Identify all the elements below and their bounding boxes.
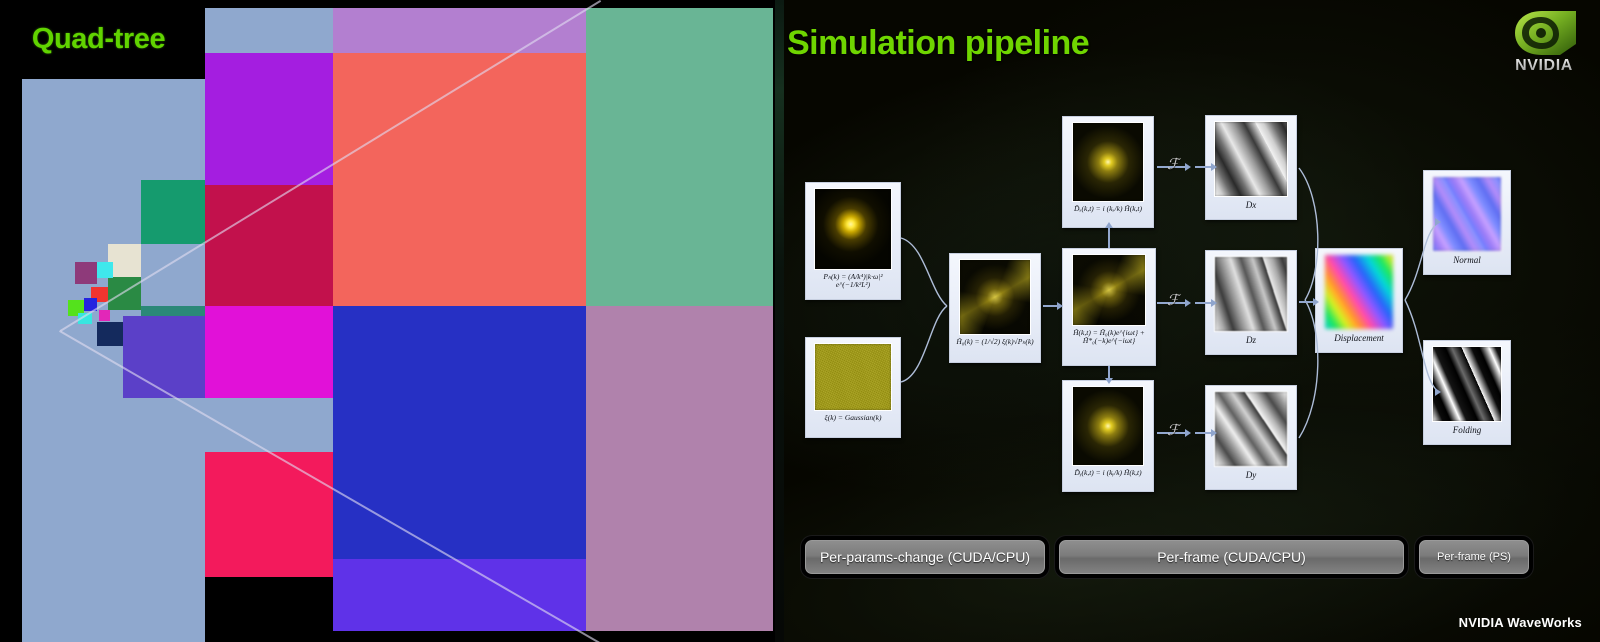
- legend-per-frame-cuda[interactable]: Per-frame (CUDA/CPU): [1059, 540, 1404, 574]
- quad-tree-cell-cyan-tile: [97, 262, 113, 278]
- quad-tree-cell-top-left-strip: [205, 8, 333, 53]
- arrow-ft2-to-dzmap-head: [1211, 299, 1217, 307]
- quad-tree-cell-mauve-right-bottom: [586, 306, 773, 631]
- arrow-ft3-to-dymap-head: [1211, 429, 1217, 437]
- arrow-dzmap-to-disp-head: [1313, 298, 1319, 306]
- quad-tree-cell-teal-small: [141, 180, 205, 244]
- quad-tree-cell-green-tile: [108, 277, 141, 310]
- nvidia-wordmark: NVIDIA: [1502, 57, 1586, 75]
- quad-tree-canvas: [0, 0, 775, 642]
- slide-left-edge: [775, 0, 784, 642]
- dz-map-node: Dz: [1205, 250, 1297, 355]
- arrow-hkt-to-dx: [1108, 228, 1110, 248]
- quad-tree-cell-violet-block: [205, 53, 333, 185]
- dy-map-caption: Dy: [1211, 470, 1291, 480]
- arrow-h0-to-hkt: [1043, 305, 1057, 307]
- arrow-dzmap-to-disp: [1299, 301, 1313, 303]
- quad-tree-cell-blue-tile: [84, 298, 97, 311]
- h0-caption: H̃₀(k) = (1/√2) ξ(k)√Pₕ(k): [955, 338, 1035, 346]
- quad-tree-cell-pink-block: [205, 452, 333, 577]
- dy-map-node: Dy: [1205, 385, 1297, 490]
- arrow-h0-to-hkt-head: [1057, 302, 1063, 310]
- h0-node: H̃₀(k) = (1/√2) ξ(k)√Pₕ(k): [949, 253, 1041, 363]
- spectrum-power-caption: Pₕ(k) = (A/k⁴)|k·ω|² e^(−1/k²L²): [811, 273, 895, 290]
- quad-tree-cell-magenta-tile: [99, 310, 110, 321]
- quad-tree-title-box: Quad-tree: [0, 0, 197, 79]
- arrow-ft-to-dxmap: [1195, 166, 1211, 168]
- hkt-thumbnail: [1072, 254, 1146, 326]
- displacement-node: Displacement: [1315, 248, 1403, 353]
- dx-spectrum-thumbnail: [1072, 122, 1144, 202]
- legend-per-frame-ps[interactable]: Per-frame (PS): [1419, 540, 1529, 574]
- quad-tree-cell-violet-bottom: [333, 559, 586, 631]
- pipeline-legend: Per-params-change (CUDA/CPU)Per-frame (C…: [775, 536, 1600, 582]
- dx-map-node: Dx: [1205, 115, 1297, 220]
- quad-tree-cell-salmon-block: [333, 53, 586, 306]
- quad-tree-cell-base-bottom-left: [22, 577, 205, 631]
- quad-tree-title: Quad-tree: [32, 23, 165, 56]
- normal-map-thumbnail: [1432, 176, 1502, 252]
- dz-map-caption: Dz: [1211, 335, 1291, 345]
- nvidia-logo: NVIDIA: [1496, 8, 1586, 80]
- folding-map-caption: Folding: [1429, 425, 1505, 435]
- arrow-ft2-to-dzmap: [1195, 302, 1211, 304]
- arrow-ft3-to-dymap: [1195, 432, 1211, 434]
- slide-footer: NVIDIA WaveWorks: [1459, 615, 1582, 630]
- slide-panel: Simulation pipeline NVIDIA Pₕ(k) = (A/k⁴…: [775, 0, 1600, 642]
- dx-map-caption: Dx: [1211, 200, 1291, 210]
- quad-tree-cell-indigo-block: [123, 316, 205, 398]
- dy-spectrum-thumbnail: [1072, 386, 1144, 466]
- nvidia-eye-icon: [1512, 8, 1580, 58]
- fourier-transform-glyph-3: ℱ: [1167, 421, 1179, 440]
- arrow-hkt-to-dy-head: [1105, 378, 1113, 384]
- hkt-node: H̃(k,t) = H̃₀(k)e^{iωt} + H̃*₀(−k)e^{−iω…: [1062, 248, 1156, 366]
- dx-spectrum-node: D̃ₓ(k,t) = i (kₓ/k) H̃(k,t): [1062, 116, 1154, 228]
- quad-tree-cell-cyan-tile-2: [78, 313, 92, 324]
- quad-tree-cell-base-left-column: [205, 398, 333, 452]
- fourier-transform-glyph-1: ℱ: [1167, 155, 1179, 174]
- dy-spectrum-caption: D̃ᵧ(k,t) = i (kᵧ/k) H̃(k,t): [1068, 469, 1148, 477]
- gaussian-thumbnail: [814, 343, 892, 411]
- arrow-ft-to-dxmap-head: [1211, 163, 1217, 171]
- merge-pk-to-h0: [901, 238, 947, 306]
- displacement-thumbnail: [1324, 254, 1394, 330]
- arrow-hkt-to-dx-head: [1105, 222, 1113, 228]
- dy-map-thumbnail: [1214, 391, 1288, 467]
- h0-thumbnail: [959, 259, 1031, 335]
- page-title: Simulation pipeline: [787, 24, 1089, 63]
- normal-map-caption: Normal: [1429, 255, 1505, 265]
- folding-map-thumbnail: [1432, 346, 1502, 422]
- spectrum-power-thumbnail: [814, 188, 892, 270]
- quad-tree-cell-green-right-top: [586, 8, 773, 306]
- arrow-hkt-to-dy: [1108, 366, 1110, 378]
- dx-spectrum-caption: D̃ₓ(k,t) = i (kₓ/k) H̃(k,t): [1068, 205, 1148, 213]
- quad-tree-cell-top-mid-violet: [333, 8, 586, 53]
- arrowhead-normal: [1435, 218, 1441, 226]
- dz-map-thumbnail: [1214, 256, 1288, 332]
- quad-tree-cell-purple-tile: [75, 262, 97, 284]
- quad-tree-panel: Quad-tree: [0, 0, 775, 642]
- hkt-caption: H̃(k,t) = H̃₀(k)e^{iωt} + H̃*₀(−k)e^{−iω…: [1068, 329, 1150, 346]
- arrow-dx-to-ft-head: [1185, 163, 1191, 171]
- quad-tree-cell-crimson-block: [205, 185, 333, 306]
- merge-gauss-to-h0: [901, 306, 947, 382]
- arrowhead-folding: [1435, 388, 1441, 396]
- dx-map-thumbnail: [1214, 121, 1288, 197]
- arrow-hkt-to-ft2-head: [1185, 299, 1191, 307]
- gaussian-caption: ξ(k) = Gaussian(k): [811, 414, 895, 422]
- displacement-caption: Displacement: [1321, 333, 1397, 343]
- legend-per-params-change[interactable]: Per-params-change (CUDA/CPU): [805, 540, 1045, 574]
- quad-tree-cell-navy-tile: [97, 322, 123, 346]
- dy-spectrum-node: D̃ᵧ(k,t) = i (kᵧ/k) H̃(k,t): [1062, 380, 1154, 492]
- arrow-dy-to-ft3-head: [1185, 429, 1191, 437]
- fourier-transform-glyph-2: ℱ: [1167, 291, 1179, 310]
- gaussian-node: ξ(k) = Gaussian(k): [805, 337, 901, 438]
- quad-tree-cell-blue-block: [333, 306, 586, 559]
- spectrum-power-node: Pₕ(k) = (A/k⁴)|k·ω|² e^(−1/k²L²): [805, 182, 901, 300]
